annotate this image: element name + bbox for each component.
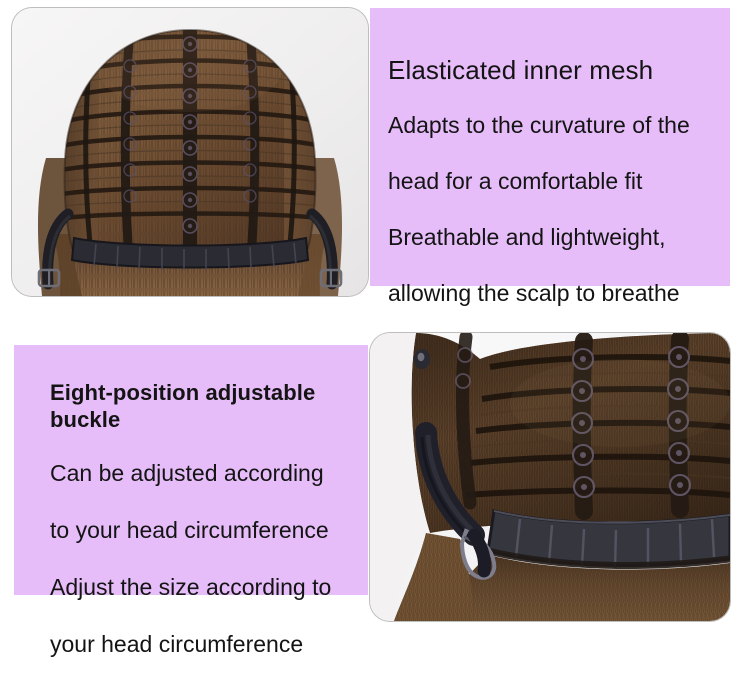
feature-body-line: Breathable and lightweight, [388,221,716,254]
feature-body-line: your head circumference [50,627,356,661]
feature-body-line: allowing the scalp to breathe [388,277,716,310]
feature-body-line: Adjust the size according to [50,570,356,604]
feature-body-line: to your head circumference [50,513,356,547]
adjustable-buckle-text-panel: Eight-position adjustable buckle Can be … [14,345,368,595]
feature-board: Elasticated inner mesh Adapts to the cur… [0,0,740,625]
adjustable-buckle-illustration [370,333,730,621]
feature-body-line: Adapts to the curvature of the [388,109,716,142]
feature-body-line: Can be adjusted according [50,456,356,490]
adjustable-buckle-content: Eight-position adjustable buckle Can be … [50,379,356,684]
elasticated-inner-mesh-content: Elasticated inner mesh Adapts to the cur… [388,54,716,333]
adjustable-buckle-closeup-photo [370,333,730,621]
wig-cap-inner-mesh-photo [12,8,368,296]
elasticated-inner-mesh-heading: Elasticated inner mesh [388,54,716,86]
adjustable-buckle-heading: Eight-position adjustable buckle [50,379,356,433]
feature-body-line: head for a comfortable fit [388,165,716,198]
wig-cap-inner-mesh-illustration [12,8,368,296]
elasticated-inner-mesh-text-panel: Elasticated inner mesh Adapts to the cur… [370,8,730,286]
